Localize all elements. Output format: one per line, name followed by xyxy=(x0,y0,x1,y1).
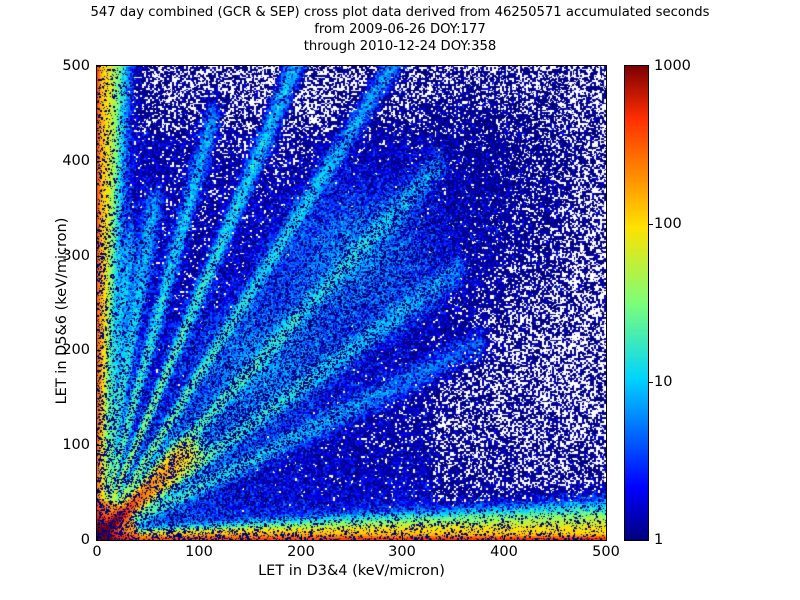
colorbar-tick-label: 1000 xyxy=(654,58,691,74)
y-axis-label-wrap: LET in D5&6 (keV/micron) xyxy=(30,0,50,600)
figure-title: 547 day combined (GCR & SEP) cross plot … xyxy=(0,4,800,55)
title-line-3: through 2010-12-24 DOY:358 xyxy=(0,38,800,55)
x-tickmark xyxy=(199,536,200,540)
colorbar-title-wrap: Counts xyxy=(596,0,616,600)
colorbar xyxy=(624,65,649,541)
y-tickmark xyxy=(97,350,101,351)
colorbar-tick-label: 1 xyxy=(654,532,663,548)
y-axis-label: LET in D5&6 (keV/micron) xyxy=(54,161,70,461)
y-tickmark xyxy=(97,161,101,162)
y-tickmark xyxy=(97,256,101,257)
colorbar-tickmark xyxy=(649,224,653,225)
plot-area xyxy=(96,65,607,541)
colorbar-tick-label: 100 xyxy=(654,216,682,232)
heatmap-canvas xyxy=(97,66,606,540)
y-tickmark xyxy=(97,445,101,446)
y-tickmark xyxy=(97,540,101,541)
x-tickmark xyxy=(301,536,302,540)
x-tick-label: 300 xyxy=(388,544,416,560)
colorbar-tickmark xyxy=(649,382,653,383)
x-tick-label: 0 xyxy=(92,544,101,560)
y-tick-label: 0 xyxy=(81,532,90,548)
x-tick-label: 400 xyxy=(490,544,518,560)
y-tick-label: 500 xyxy=(62,58,90,74)
x-tickmark xyxy=(504,536,505,540)
figure: 547 day combined (GCR & SEP) cross plot … xyxy=(0,0,800,600)
x-tick-label: 200 xyxy=(287,544,315,560)
colorbar-tick-label: 10 xyxy=(654,374,672,390)
x-axis-label: LET in D3&4 (keV/micron) xyxy=(96,563,607,579)
x-tickmark xyxy=(402,536,403,540)
x-tick-label: 100 xyxy=(185,544,213,560)
title-line-1: 547 day combined (GCR & SEP) cross plot … xyxy=(0,4,800,21)
colorbar-gradient xyxy=(625,66,648,540)
y-tickmark xyxy=(97,66,101,67)
title-line-2: from 2009-06-26 DOY:177 xyxy=(0,21,800,38)
